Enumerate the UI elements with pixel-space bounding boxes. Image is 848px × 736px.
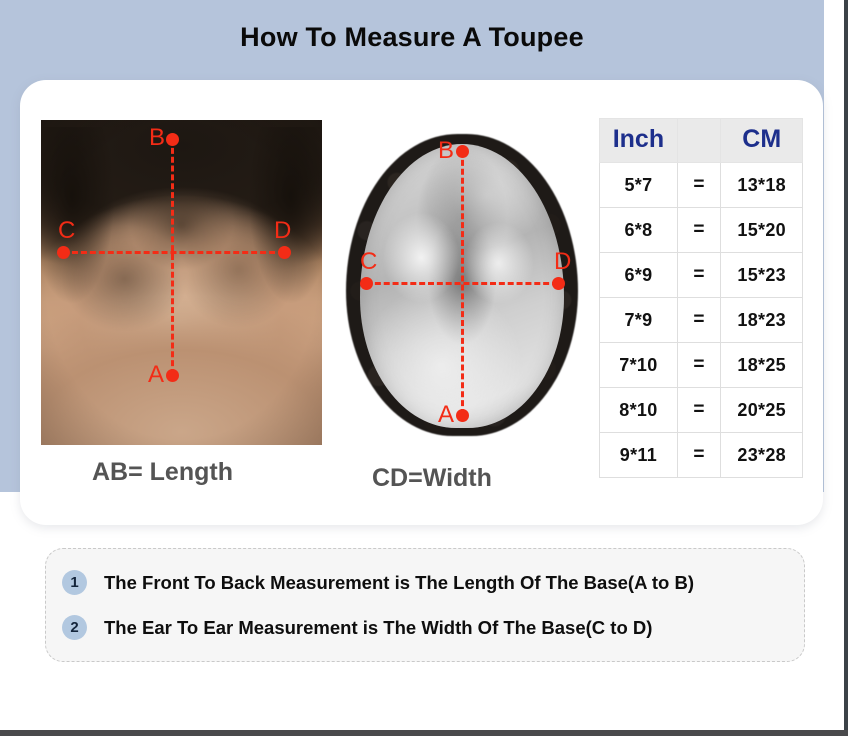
cell-inch: 7*10: [600, 343, 678, 388]
scalp-caption: AB= Length: [92, 458, 233, 487]
table-row: 6*9 = 15*23: [600, 253, 803, 298]
size-conversion-table: Inch CM 5*7 = 13*18 6*8 = 15*20 6*9 = 15…: [599, 118, 803, 478]
background-white-strip: [0, 712, 848, 730]
toupee-caption: CD=Width: [372, 464, 492, 493]
cell-cm: 15*20: [721, 208, 803, 253]
toupee-photo: B A C D: [338, 128, 586, 443]
cell-cm: 23*28: [721, 433, 803, 478]
table-row: 9*11 = 23*28: [600, 433, 803, 478]
cell-equals: =: [677, 253, 721, 298]
table-header-row: Inch CM: [600, 119, 803, 163]
cell-cm: 18*25: [721, 343, 803, 388]
instruction-badge-1: 1: [62, 570, 87, 595]
cell-inch: 5*7: [600, 163, 678, 208]
cell-cm: 18*23: [721, 298, 803, 343]
header-cm: CM: [721, 119, 803, 163]
table-row: 6*8 = 15*20: [600, 208, 803, 253]
cell-cm: 15*23: [721, 253, 803, 298]
cell-equals: =: [677, 163, 721, 208]
cell-inch: 6*8: [600, 208, 678, 253]
scalp-photo: B A C D: [41, 120, 322, 445]
page-title: How To Measure A Toupee: [0, 22, 824, 53]
cell-inch: 6*9: [600, 253, 678, 298]
table-row: 5*7 = 13*18: [600, 163, 803, 208]
cell-inch: 8*10: [600, 388, 678, 433]
table-row: 8*10 = 20*25: [600, 388, 803, 433]
instruction-badge-2: 2: [62, 615, 87, 640]
cell-equals: =: [677, 343, 721, 388]
cell-inch: 9*11: [600, 433, 678, 478]
table-row: 7*10 = 18*25: [600, 343, 803, 388]
bottom-bar: [0, 730, 848, 736]
cell-equals: =: [677, 388, 721, 433]
cell-cm: 13*18: [721, 163, 803, 208]
cell-equals: =: [677, 433, 721, 478]
instructions-box: 1 The Front To Back Measurement is The L…: [45, 548, 805, 662]
right-edge-bar: [844, 0, 848, 730]
instruction-text-2: The Ear To Ear Measurement is The Width …: [104, 617, 652, 639]
header-inch: Inch: [600, 119, 678, 163]
instruction-text-1: The Front To Back Measurement is The Len…: [104, 572, 694, 594]
cell-equals: =: [677, 298, 721, 343]
scalp-vignette: [41, 120, 322, 445]
cell-cm: 20*25: [721, 388, 803, 433]
cell-inch: 7*9: [600, 298, 678, 343]
instruction-item-2: 2 The Ear To Ear Measurement is The Widt…: [62, 615, 652, 640]
page-root: How To Measure A Toupee B A C D AB= Leng…: [0, 0, 848, 736]
header-equals: [677, 119, 721, 163]
table-row: 7*9 = 18*23: [600, 298, 803, 343]
instruction-item-1: 1 The Front To Back Measurement is The L…: [62, 570, 694, 595]
cell-equals: =: [677, 208, 721, 253]
